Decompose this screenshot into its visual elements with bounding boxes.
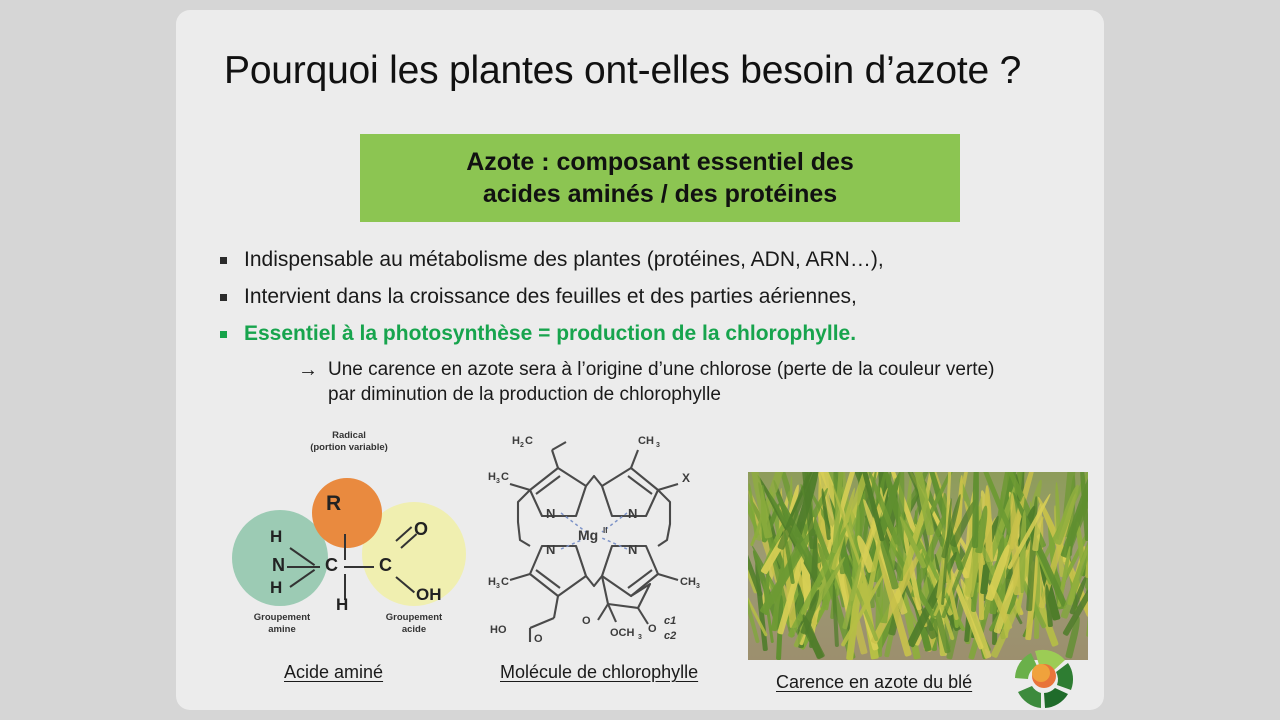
figure-row: Radical (portion variable) R H H N C H C bbox=[176, 426, 1104, 710]
methyl-bl-c: C bbox=[501, 576, 509, 588]
amine-group-label: Groupement amine bbox=[230, 612, 334, 636]
radical-label-line-1: Radical bbox=[274, 430, 424, 442]
bullet-square-icon bbox=[220, 257, 227, 264]
arrow-right-icon: → bbox=[298, 357, 318, 383]
vinyl-sub: 2 bbox=[520, 442, 524, 449]
logo-pinwheel-icon bbox=[1011, 648, 1077, 710]
methyl-bottom-left-label: H bbox=[488, 576, 496, 588]
methyl-top-right-label: CH bbox=[638, 435, 654, 447]
acid-carbon-atom: C bbox=[379, 555, 392, 576]
hydroxyl-group: OH bbox=[416, 585, 442, 605]
hydrogen-atom-2: H bbox=[270, 578, 282, 598]
wheat-deficiency-photo bbox=[748, 472, 1088, 660]
sub-bullet-line-1: Une carence en azote sera à l’origine d’… bbox=[328, 359, 994, 380]
page-title: Pourquoi les plantes ont-elles besoin d’… bbox=[224, 48, 1021, 94]
bullet-text: Intervient dans la croissance des feuill… bbox=[244, 283, 857, 310]
bond-c-r bbox=[344, 534, 346, 560]
list-item: Essentiel à la photosynthèse = productio… bbox=[220, 320, 1080, 347]
x-substituent-label: X bbox=[682, 471, 690, 485]
ester-group-label: OCH bbox=[610, 627, 635, 639]
carboxyl-label: HO bbox=[490, 624, 507, 636]
methyl-tl-sub: 3 bbox=[496, 478, 500, 485]
acid-oxygen-label: O bbox=[534, 633, 543, 643]
caption-amino-acid: Acide aminé bbox=[284, 662, 383, 683]
banner-line-1: Azote : composant essentiel des bbox=[466, 146, 854, 178]
banner-text: Azote : composant essentiel des acides a… bbox=[466, 146, 854, 210]
key-message-banner: Azote : composant essentiel des acides a… bbox=[360, 134, 960, 222]
nitrogen-atom: N bbox=[272, 555, 285, 576]
bond-n-c bbox=[287, 566, 320, 568]
bullet-list: Indispensable au métabolisme des plantes… bbox=[220, 246, 1080, 407]
radical-symbol: R bbox=[326, 492, 341, 516]
methyl-top-left-label: H bbox=[488, 471, 496, 483]
hydrogen-atom-1: H bbox=[270, 527, 282, 547]
ester-group-sub: 3 bbox=[638, 634, 642, 641]
sub-bullet-line-2: par diminution de la production de chlor… bbox=[328, 384, 721, 405]
caption-wheat-photo: Carence en azote du blé bbox=[776, 672, 972, 693]
radical-group-circle bbox=[312, 478, 382, 548]
list-item: Indispensable au métabolisme des plantes… bbox=[220, 246, 1080, 273]
nitrogen-label-3: N bbox=[546, 542, 555, 557]
bullet-square-icon bbox=[220, 294, 227, 301]
methyl-tl-c: C bbox=[501, 471, 509, 483]
sub-list-item: → Une carence en azote sera à l’origine … bbox=[298, 357, 1080, 407]
bond-c-c bbox=[344, 566, 374, 568]
variant-label-1: c1 bbox=[664, 615, 676, 627]
bullet-text: Indispensable au métabolisme des plantes… bbox=[244, 246, 884, 273]
hydrogen-atom-3: H bbox=[336, 595, 348, 615]
ester-oxygen-label: O bbox=[582, 615, 591, 627]
amino-acid-diagram: Radical (portion variable) R H H N C H C bbox=[224, 430, 464, 640]
amine-group-label-line-1: Groupement bbox=[230, 612, 334, 624]
methyl-bl-sub: 3 bbox=[496, 583, 500, 590]
acid-group-label-line-1: Groupement bbox=[362, 612, 466, 624]
slide-canvas: Pourquoi les plantes ont-elles besoin d’… bbox=[176, 10, 1104, 710]
oxygen-atom: O bbox=[414, 519, 428, 540]
bullet-text-highlight: Essentiel à la photosynthèse = productio… bbox=[244, 320, 856, 347]
ketone-oxygen-label: O bbox=[648, 623, 657, 635]
banner-line-2: acides aminés / des protéines bbox=[466, 178, 854, 210]
nitrogen-label-4: N bbox=[628, 542, 637, 557]
methyl-tr-sub: 3 bbox=[656, 442, 660, 449]
acid-group-label-line-2: acide bbox=[362, 624, 466, 636]
magnesium-label: Mg bbox=[578, 527, 598, 543]
acid-group-label: Groupement acide bbox=[362, 612, 466, 636]
vinyl-c: C bbox=[525, 435, 533, 447]
methyl-br-sub: 3 bbox=[696, 583, 700, 590]
radical-label-line-2: (portion variable) bbox=[274, 442, 424, 454]
chlorophyll-structure-svg: N N N N Mg II H 2 C H 3 C CH 3 X H 3 bbox=[486, 428, 701, 643]
caption-chlorophyll: Molécule de chlorophylle bbox=[500, 662, 698, 683]
bullet-square-icon bbox=[220, 331, 227, 338]
amine-group-label-line-2: amine bbox=[230, 624, 334, 636]
alpha-carbon-atom: C bbox=[325, 555, 338, 576]
vinyl-label: H bbox=[512, 435, 520, 447]
sub-bullet-text: Une carence en azote sera à l’origine d’… bbox=[328, 357, 994, 407]
nitrogen-label-1: N bbox=[546, 506, 555, 521]
radical-label: Radical (portion variable) bbox=[274, 430, 424, 454]
logo-svg bbox=[1011, 648, 1077, 710]
methyl-bottom-right-label: CH bbox=[680, 576, 696, 588]
chlorophyll-diagram: N N N N Mg II H 2 C H 3 C CH 3 X H 3 bbox=[486, 428, 701, 643]
list-item: Intervient dans la croissance des feuill… bbox=[220, 283, 1080, 310]
variant-label-2: c2 bbox=[664, 630, 676, 642]
magnesium-charge: II bbox=[603, 526, 607, 535]
nitrogen-label-2: N bbox=[628, 506, 637, 521]
